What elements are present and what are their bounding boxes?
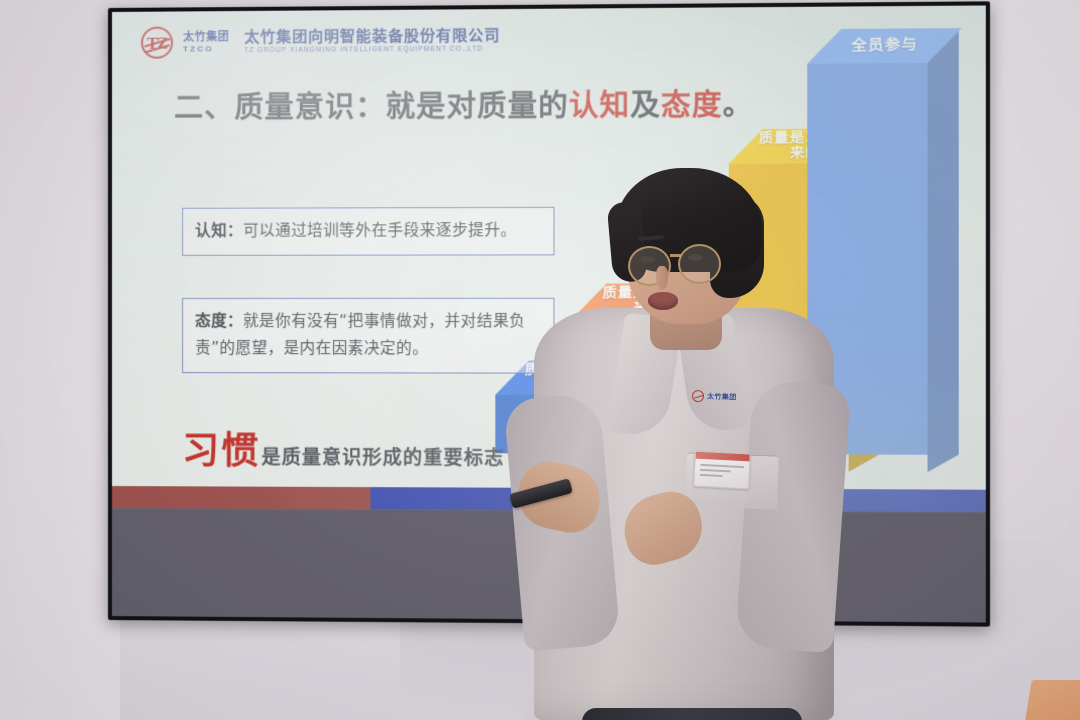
chair <box>1024 680 1080 720</box>
presenter-right-arm <box>735 379 851 653</box>
presenter: 太竹集团 <box>498 168 880 720</box>
presenter-mouth <box>648 292 678 310</box>
id-badge <box>693 451 751 490</box>
slide-title-highlight-2: 态度 <box>661 88 723 123</box>
logo-cn-text: 太竹集团 <box>183 31 229 44</box>
conclusion-emphasis: 习惯 <box>182 432 260 469</box>
photo-scene: TZ 太竹集团 TZCO 太竹集团向明智能装备股份有限公司 TZ GROUP X… <box>0 0 1080 720</box>
definition-box-separator: ： <box>227 312 243 330</box>
company-logo-icon: TZ <box>140 26 174 60</box>
definition-box-separator: ： <box>227 222 243 240</box>
conclusion-rest: 是质量意识形成的重要标志 <box>261 449 504 471</box>
definition-box-body: 可以通过培训等外在手段来逐步提升。 <box>243 221 517 240</box>
footer-strip-left <box>112 487 370 510</box>
slide-title-prefix: 二、质量意识：就是对质量的 <box>174 88 569 124</box>
company-name-cn: 太竹集团向明智能装备股份有限公司 <box>244 27 500 46</box>
logo-en-text: TZCO <box>183 44 229 54</box>
bar-side-face <box>928 28 959 472</box>
slide-title: 二、质量意识：就是对质量的认知及态度。 <box>174 86 754 126</box>
slide-conclusion-line: 习惯 是质量意识形成的重要标志 <box>182 432 504 470</box>
room-wall-left <box>0 0 120 720</box>
id-badge-text-lines <box>700 464 745 481</box>
logo-wordmark: 太竹集团 TZCO <box>183 31 229 54</box>
presenter-nose <box>656 266 668 290</box>
slide-title-suffix: 。 <box>723 87 754 122</box>
company-name-block: 太竹集团向明智能装备股份有限公司 TZ GROUP XIANGMING INTE… <box>244 27 500 55</box>
slide-title-middle: 及 <box>630 88 661 123</box>
glasses-lens-right <box>678 244 721 284</box>
logo-mark-text: TZ <box>140 26 174 60</box>
definition-box-body: 就是你有没有“把事情做对，并对结果负责”的愿望，是内在因素决定的。 <box>195 312 525 357</box>
jacket-logo-icon <box>692 390 704 402</box>
id-badge-header-bar <box>696 452 750 462</box>
company-name-en: TZ GROUP XIANGMING INTELLIGENT EQUIPMENT… <box>244 46 500 55</box>
slide-title-highlight-1: 认知 <box>569 88 630 123</box>
glasses-bridge <box>670 254 682 257</box>
jacket-logo-text: 太竹集团 <box>707 393 737 401</box>
definition-box-label: 态度 <box>195 312 227 330</box>
presenter-trousers <box>582 708 802 720</box>
jacket-logo: 太竹集团 <box>692 389 754 405</box>
slide-header: TZ 太竹集团 TZCO 太竹集团向明智能装备股份有限公司 TZ GROUP X… <box>140 23 500 60</box>
definition-box-label: 认知 <box>195 222 227 240</box>
